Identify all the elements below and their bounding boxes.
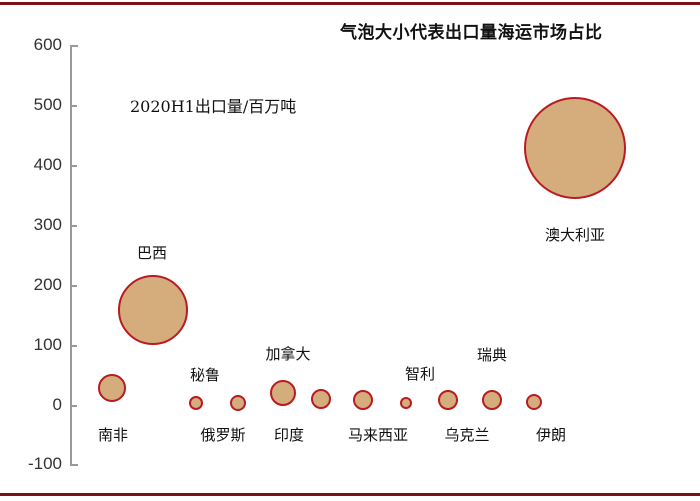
y-axis-spine (70, 46, 72, 465)
bubble-加拿大 (270, 380, 296, 406)
bubble-label-印度: 印度 (274, 424, 304, 445)
y-axis-tick (70, 225, 77, 227)
bubble-俄罗斯 (230, 395, 246, 411)
bubble-label-加拿大: 加拿大 (265, 343, 310, 364)
bubble-乌克兰 (438, 390, 458, 410)
y-axis-tick (70, 165, 77, 167)
plot-area: 6005004003002001000-100 南非巴西秘鲁俄罗斯加拿大印度马来… (0, 0, 700, 501)
bubble-秘鲁 (189, 396, 203, 410)
bubble-chart-figure: 气泡大小代表出口量海运市场占比 2020H1出口量/百万吨 6005004003… (0, 0, 700, 501)
y-axis-end-cap (70, 464, 78, 466)
bubble-智利 (400, 397, 412, 409)
bubble-巴西 (118, 275, 188, 345)
y-axis-tick-label-text: 0 (12, 395, 62, 415)
bubble-label-南非: 南非 (98, 424, 128, 445)
bubble-瑞典 (482, 390, 502, 410)
bubble-label-巴西: 巴西 (137, 242, 167, 263)
y-axis-tick-label-text: 500 (12, 95, 62, 115)
bubble-label-乌克兰: 乌克兰 (444, 424, 489, 445)
bubble-南非 (98, 374, 126, 402)
y-axis-tick (70, 345, 77, 347)
bubble-label-瑞典: 瑞典 (477, 344, 507, 365)
y-axis-tick-label-text: 100 (12, 335, 62, 355)
bubble-印度 (311, 389, 331, 409)
y-axis-tick (70, 285, 77, 287)
y-axis-tick-label-text: 200 (12, 275, 62, 295)
bubble-label-澳大利亚: 澳大利亚 (545, 224, 605, 245)
bubble-label-伊朗: 伊朗 (536, 424, 566, 445)
bubble-label-马来西亚: 马来西亚 (348, 424, 408, 445)
y-axis-tick-label-text: 300 (12, 215, 62, 235)
y-axis-end-cap (70, 45, 78, 47)
y-axis-tick-label-text: 400 (12, 155, 62, 175)
y-axis-tick (70, 105, 77, 107)
bubble-label-智利: 智利 (405, 363, 435, 384)
y-axis-tick (70, 405, 77, 407)
y-axis-tick-label-text: -100 (12, 454, 62, 474)
bubble-label-秘鲁: 秘鲁 (190, 364, 220, 385)
y-axis-tick-label-text: 600 (12, 35, 62, 55)
bubble-马来西亚 (353, 390, 373, 410)
bubble-label-俄罗斯: 俄罗斯 (200, 424, 245, 445)
bubble-伊朗 (526, 394, 542, 410)
bubble-澳大利亚 (524, 97, 626, 199)
